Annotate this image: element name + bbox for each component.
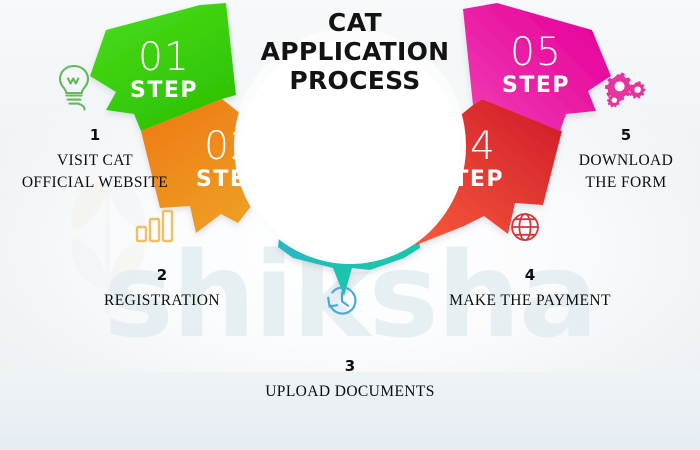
caption-number-4: 4 — [430, 266, 630, 284]
step-number-03: 03 — [294, 164, 406, 203]
caption-3: 3 UPLOAD DOCUMENTS — [235, 357, 465, 403]
caption-number-2: 2 — [72, 266, 252, 284]
infographic-canvas: shiksha — [0, 0, 700, 450]
step-number-01: 01 — [108, 38, 220, 77]
caption-text-2: REGISTRATION — [72, 290, 252, 312]
caption-text-4: MAKE THE PAYMENT — [430, 290, 630, 312]
title-line-2: APPLICATION PROCESS — [210, 37, 500, 95]
arc-label-step-04: 04 STEP — [414, 127, 526, 191]
arc-label-step-03: 03 STEP — [294, 164, 406, 228]
caption-text-5: DOWNLOAD THE FORM — [556, 150, 696, 195]
caption-5: 5 DOWNLOAD THE FORM — [556, 126, 696, 195]
arc-label-step-02: 02 STEP — [174, 127, 286, 191]
step-word-04: STEP — [414, 169, 526, 191]
caption-1: 1 VISIT CAT OFFICIAL WEBSITE — [0, 126, 190, 195]
caption-number-5: 5 — [556, 126, 696, 144]
gears-icon — [600, 70, 652, 123]
caption-4: 4 MAKE THE PAYMENT — [430, 266, 630, 312]
clock-history-icon — [324, 283, 360, 324]
step-number-02: 02 — [174, 127, 286, 166]
caption-number-3: 3 — [235, 357, 465, 375]
step-word-02: STEP — [174, 169, 286, 191]
bar-chart-icon — [133, 207, 177, 250]
step-number-04: 04 — [414, 127, 526, 166]
page-title: CAT APPLICATION PROCESS — [210, 8, 500, 95]
caption-text-3: UPLOAD DOCUMENTS — [235, 381, 465, 403]
lightbulb-icon — [52, 62, 96, 119]
arc-label-step-01: 01 STEP — [108, 38, 220, 102]
step-word-03: STEP — [294, 206, 406, 228]
globe-icon — [508, 210, 542, 249]
title-line-1: CAT — [210, 8, 500, 37]
caption-2: 2 REGISTRATION — [72, 266, 252, 312]
caption-text-1: VISIT CAT OFFICIAL WEBSITE — [0, 150, 190, 195]
step-word-01: STEP — [108, 80, 220, 102]
caption-number-1: 1 — [0, 126, 190, 144]
